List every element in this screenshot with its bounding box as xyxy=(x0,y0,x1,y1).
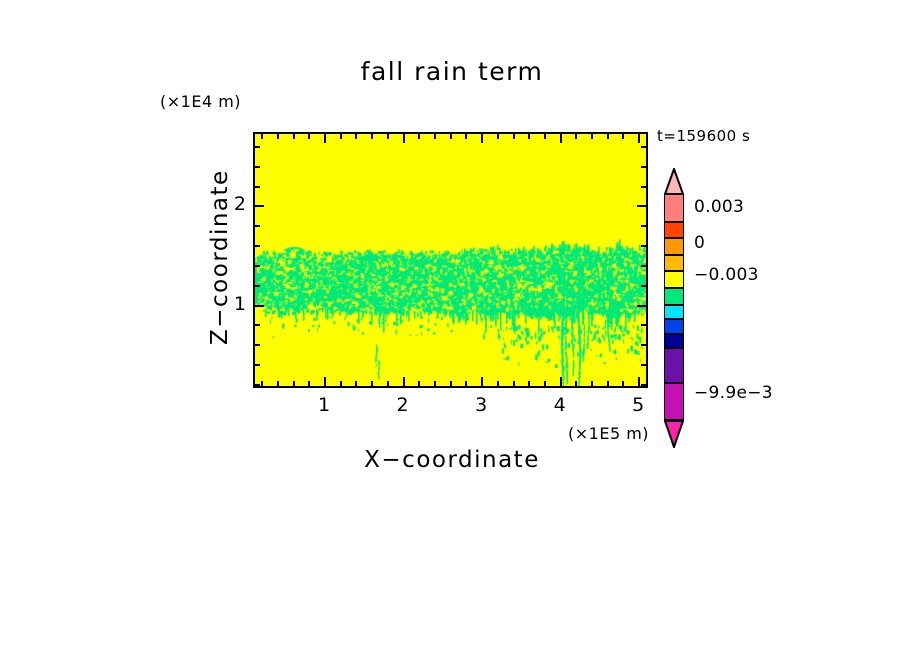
colorbar-band xyxy=(664,194,684,222)
colorbar-tick-label: −0.003 xyxy=(694,265,759,285)
colorbar-band xyxy=(664,222,684,238)
colorbar-band xyxy=(664,334,684,348)
colorbar-band xyxy=(664,288,684,305)
colorbar-band xyxy=(664,305,684,319)
x-tick-label: 1 xyxy=(309,394,339,416)
colorbar-band xyxy=(664,383,684,420)
timestamp-label: t=159600 s xyxy=(657,127,750,145)
colorbar-band xyxy=(664,238,684,255)
x-tick-label: 3 xyxy=(466,394,496,416)
y-tick-label: 2 xyxy=(216,193,246,215)
colorbar-arrow-bottom xyxy=(664,420,684,448)
x-tick-label: 4 xyxy=(545,394,575,416)
colorbar-band xyxy=(664,319,684,334)
x-axis-title: X−coordinate xyxy=(0,447,904,473)
contour-field-canvas xyxy=(255,134,646,386)
y-tick-label: 1 xyxy=(216,293,246,315)
page-title: fall rain term xyxy=(0,57,904,86)
colorbar-tick-label: −9.9e−3 xyxy=(694,383,773,403)
colorbar-band xyxy=(664,255,684,271)
x-axis-unit-label: (×1E5 m) xyxy=(568,424,649,443)
x-tick-label: 5 xyxy=(623,394,653,416)
x-tick-label: 2 xyxy=(388,394,418,416)
colorbar xyxy=(664,168,684,423)
colorbar-band xyxy=(664,348,684,383)
colorbar-tick-label: 0.003 xyxy=(694,197,744,217)
colorbar-arrow-top xyxy=(664,168,684,194)
colorbar-band xyxy=(664,271,684,288)
plot-area xyxy=(253,132,648,388)
colorbar-tick-label: 0 xyxy=(694,233,705,253)
